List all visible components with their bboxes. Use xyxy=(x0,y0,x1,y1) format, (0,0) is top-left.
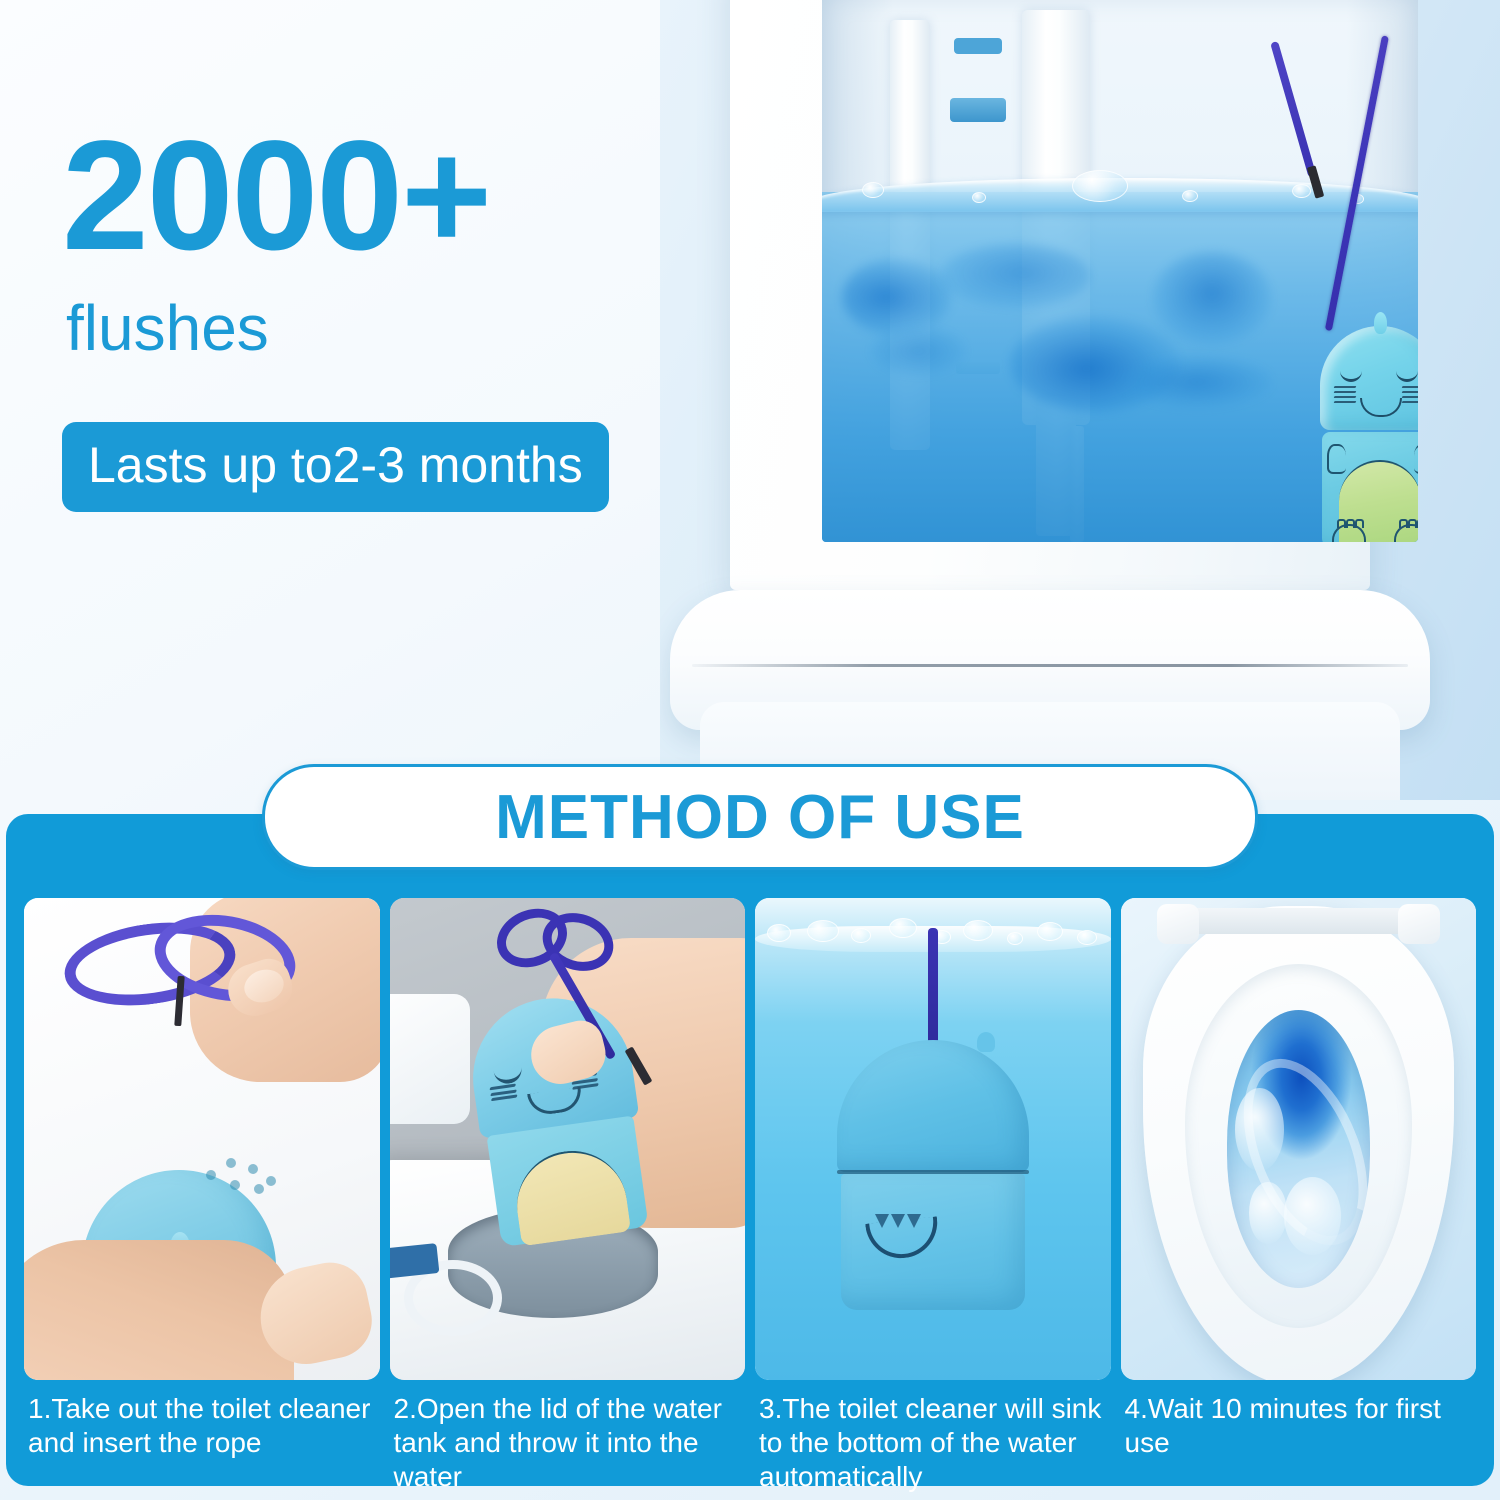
toilet-hinge-left xyxy=(1157,904,1199,944)
dino-body xyxy=(841,1174,1025,1310)
tank-blue-fitting xyxy=(390,1243,439,1279)
toilet-bowl-seam xyxy=(692,664,1408,667)
method-of-use-title: METHOD OF USE xyxy=(495,782,1025,853)
water-foam xyxy=(1249,1182,1286,1243)
toilet-hinge-right xyxy=(1398,904,1440,944)
hero-product-photo xyxy=(660,0,1500,800)
dino-head xyxy=(1320,326,1418,430)
dino-teeth xyxy=(875,1214,923,1230)
dino-arm-left xyxy=(1327,444,1346,474)
dino-belly xyxy=(509,1144,630,1246)
dino-arm-right xyxy=(1414,444,1418,474)
dino-mouth xyxy=(527,1087,584,1117)
step-image-3 xyxy=(755,898,1111,1380)
step-caption-2: 2.Open the lid of the water tank and thr… xyxy=(390,1392,746,1494)
water-bubble xyxy=(862,182,884,198)
hanging-rope xyxy=(928,928,938,1048)
step-caption-3: 3.The toilet cleaner will sink to the bo… xyxy=(755,1392,1111,1494)
water-foam xyxy=(1284,1177,1341,1255)
water-bubble xyxy=(1292,184,1311,198)
dino-blush-left xyxy=(1334,386,1356,399)
dino-foot-left xyxy=(1332,524,1366,542)
dino-body xyxy=(486,1116,648,1248)
step-image-grid xyxy=(24,898,1476,1380)
dino-cleaner-product xyxy=(1320,326,1418,542)
dino-head xyxy=(837,1040,1029,1172)
dino-eye-right xyxy=(1396,368,1418,382)
water-foam xyxy=(1235,1088,1284,1171)
dino-vent-holes xyxy=(200,1154,276,1188)
dye-swirl xyxy=(842,258,952,336)
dye-swirl xyxy=(940,244,1090,308)
tank-side-panel xyxy=(390,994,470,1124)
flush-count: 2000+ xyxy=(62,118,722,274)
toilet-tank xyxy=(730,0,1370,590)
dino-horn xyxy=(1374,312,1387,334)
step-image-1 xyxy=(24,898,380,1380)
dino-mouth xyxy=(1360,398,1402,417)
dino-body xyxy=(1322,432,1418,542)
water-bubble xyxy=(1182,190,1198,202)
dino-eye-left xyxy=(1340,368,1362,382)
fill-valve-cap xyxy=(954,38,1002,54)
dino-eye-left xyxy=(493,1065,523,1086)
dino-cleaner-submerged xyxy=(837,1040,1029,1310)
headline-block: 2000+ flushes Lasts up to2-3 months xyxy=(62,118,722,512)
method-of-use-banner: METHOD OF USE xyxy=(262,764,1258,870)
product-infographic: 2000+ flushes Lasts up to2-3 months METH… xyxy=(0,0,1500,1500)
step-caption-4: 4.Wait 10 minutes for first use xyxy=(1121,1392,1477,1494)
step-image-2 xyxy=(390,898,746,1380)
dye-swirl xyxy=(1122,356,1272,408)
water-bubble xyxy=(1072,170,1128,202)
dino-horn xyxy=(977,1032,995,1052)
dino-blush-right xyxy=(1402,386,1418,399)
toilet-bowl-blue-water xyxy=(1227,1010,1371,1288)
step-image-4 xyxy=(1121,898,1477,1380)
flush-unit-label: flushes xyxy=(66,296,722,360)
duration-badge: Lasts up to2-3 months xyxy=(62,422,609,512)
fill-valve-band xyxy=(950,98,1006,122)
dye-swirl xyxy=(1152,252,1272,344)
dino-blush-left xyxy=(489,1084,517,1103)
tank-interior-cutaway xyxy=(822,0,1418,542)
hand-lower xyxy=(24,1240,294,1380)
step-captions: 1.Take out the toilet cleaner and insert… xyxy=(24,1392,1476,1494)
toilet-lid-hinge xyxy=(1173,908,1425,934)
water-bubble xyxy=(972,192,986,203)
dye-swirl xyxy=(870,326,966,376)
step-caption-1: 1.Take out the toilet cleaner and insert… xyxy=(24,1392,380,1494)
